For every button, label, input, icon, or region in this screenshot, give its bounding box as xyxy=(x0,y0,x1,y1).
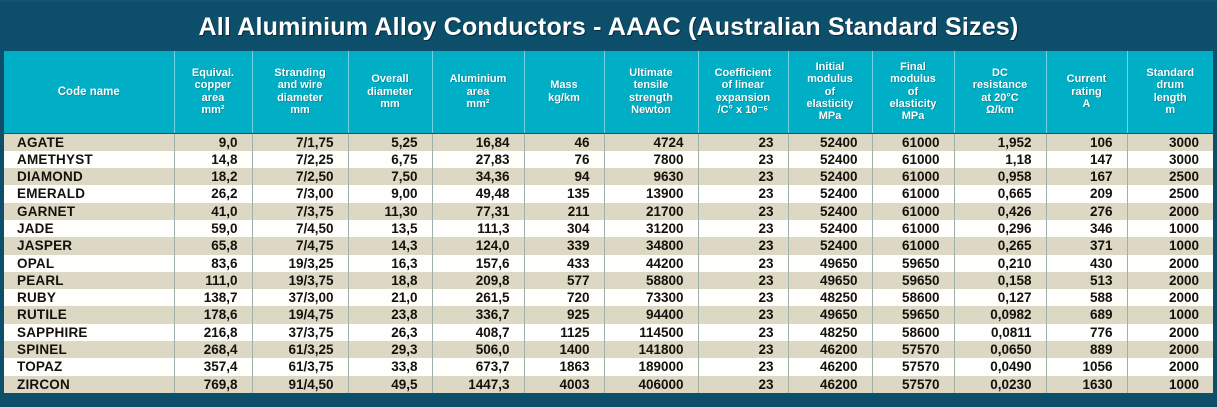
cell-ultimate_tensile_strength: 58800 xyxy=(604,272,698,289)
column-header-line: Coefficient xyxy=(700,67,787,79)
top-border-line xyxy=(0,0,1217,2)
cell-stranding_wire_diameter: 7/1,75 xyxy=(252,133,348,151)
cell-dc_resistance_20c: 0,265 xyxy=(954,237,1046,254)
cell-mass: 720 xyxy=(524,289,604,306)
cell-code-name: ZIRCON xyxy=(4,376,174,393)
cell-stranding_wire_diameter: 19/3,75 xyxy=(252,272,348,289)
cell-overall_diameter: 23,8 xyxy=(348,306,432,323)
cell-current_rating: 776 xyxy=(1046,324,1127,341)
column-header-line: Ultimate xyxy=(606,67,697,79)
column-header-line: DC xyxy=(956,67,1045,79)
cell-code-name: RUBY xyxy=(4,289,174,306)
column-header-line: Mass xyxy=(526,79,603,91)
cell-overall_diameter: 6,75 xyxy=(348,151,432,168)
cell-standard_drum_length: 3000 xyxy=(1127,151,1213,168)
cell-aluminium_area: 49,48 xyxy=(432,185,524,202)
cell-code-name: JASPER xyxy=(4,237,174,254)
cell-standard_drum_length: 2000 xyxy=(1127,203,1213,220)
cell-initial_modulus_elasticity: 46200 xyxy=(788,358,872,375)
column-header-final_modulus_elasticity[interactable]: FinalmodulusofelasticityMPa xyxy=(872,51,954,133)
cell-standard_drum_length: 1000 xyxy=(1127,220,1213,237)
cell-aluminium_area: 124,0 xyxy=(432,237,524,254)
cell-standard_drum_length: 2000 xyxy=(1127,272,1213,289)
cell-coefficient_linear_expansion: 23 xyxy=(698,376,788,393)
cell-stranding_wire_diameter: 19/3,25 xyxy=(252,255,348,272)
cell-mass: 433 xyxy=(524,255,604,272)
column-header-stranding_wire_diameter[interactable]: Strandingand wirediametermm xyxy=(252,51,348,133)
column-header-aluminium_area[interactable]: Aluminiumareamm² xyxy=(432,51,524,133)
cell-current_rating: 1056 xyxy=(1046,358,1127,375)
cell-ultimate_tensile_strength: 114500 xyxy=(604,324,698,341)
cell-code-name: JADE xyxy=(4,220,174,237)
cell-code-name: TOPAZ xyxy=(4,358,174,375)
cell-stranding_wire_diameter: 37/3,00 xyxy=(252,289,348,306)
column-header-line: rating xyxy=(1048,86,1126,98)
cell-stranding_wire_diameter: 7/4,75 xyxy=(252,237,348,254)
cell-stranding_wire_diameter: 37/3,75 xyxy=(252,324,348,341)
cell-mass: 135 xyxy=(524,185,604,202)
column-header-line: of linear xyxy=(700,79,787,91)
cell-standard_drum_length: 1000 xyxy=(1127,306,1213,323)
cell-mass: 1400 xyxy=(524,341,604,358)
cell-overall_diameter: 33,8 xyxy=(348,358,432,375)
cell-overall_diameter: 18,8 xyxy=(348,272,432,289)
cell-coefficient_linear_expansion: 23 xyxy=(698,358,788,375)
column-header-line: copper xyxy=(176,79,251,91)
column-header-line: MPa xyxy=(790,110,871,122)
cell-aluminium_area: 1447,3 xyxy=(432,376,524,393)
column-header-line: Final xyxy=(874,61,953,73)
column-header-line: elasticity xyxy=(874,98,953,110)
cell-coefficient_linear_expansion: 23 xyxy=(698,324,788,341)
cell-final_modulus_elasticity: 57570 xyxy=(872,341,954,358)
cell-coefficient_linear_expansion: 23 xyxy=(698,220,788,237)
cell-code-name: AGATE xyxy=(4,133,174,151)
cell-initial_modulus_elasticity: 49650 xyxy=(788,272,872,289)
cell-dc_resistance_20c: 0,210 xyxy=(954,255,1046,272)
page-title: All Aluminium Alloy Conductors - AAAC (A… xyxy=(198,13,1018,42)
cell-coefficient_linear_expansion: 23 xyxy=(698,272,788,289)
cell-mass: 1863 xyxy=(524,358,604,375)
column-header-coefficient_linear_expansion[interactable]: Coefficientof linearexpansion/C° x 10⁻⁶ xyxy=(698,51,788,133)
table-header-row: Code nameEquival.copperareamm²Strandinga… xyxy=(4,51,1213,133)
cell-initial_modulus_elasticity: 48250 xyxy=(788,289,872,306)
column-header-line: Newton xyxy=(606,104,697,116)
cell-stranding_wire_diameter: 91/4,50 xyxy=(252,376,348,393)
cell-code-name: DIAMOND xyxy=(4,168,174,185)
cell-stranding_wire_diameter: 61/3,75 xyxy=(252,358,348,375)
column-header-line: resistance xyxy=(956,79,1045,91)
cell-equiv_copper_area: 178,6 xyxy=(174,306,252,323)
cell-dc_resistance_20c: 0,158 xyxy=(954,272,1046,289)
cell-ultimate_tensile_strength: 4724 xyxy=(604,133,698,151)
table-row[interactable]: RUBY138,737/3,0021,0261,5720733002348250… xyxy=(4,289,1213,306)
column-header-line: diameter xyxy=(254,92,347,104)
column-header-line: modulus xyxy=(790,73,871,85)
cell-equiv_copper_area: 14,8 xyxy=(174,151,252,168)
cell-code-name: EMERALD xyxy=(4,185,174,202)
table-row[interactable]: AGATE9,07/1,755,2516,8446472423524006100… xyxy=(4,133,1213,151)
cell-coefficient_linear_expansion: 23 xyxy=(698,168,788,185)
cell-mass: 211 xyxy=(524,203,604,220)
column-header-line: at 20°C xyxy=(956,92,1045,104)
column-header-line: Standard xyxy=(1129,67,1213,79)
cell-overall_diameter: 5,25 xyxy=(348,133,432,151)
cell-standard_drum_length: 2500 xyxy=(1127,168,1213,185)
cell-code-name: SAPPHIRE xyxy=(4,324,174,341)
column-header-line: Code name xyxy=(5,86,173,98)
cell-aluminium_area: 77,31 xyxy=(432,203,524,220)
cell-coefficient_linear_expansion: 23 xyxy=(698,255,788,272)
column-header-line: area xyxy=(176,92,251,104)
column-header-line: area xyxy=(434,86,523,98)
cell-initial_modulus_elasticity: 52400 xyxy=(788,185,872,202)
cell-final_modulus_elasticity: 57570 xyxy=(872,358,954,375)
cell-dc_resistance_20c: 0,127 xyxy=(954,289,1046,306)
column-header-initial_modulus_elasticity[interactable]: InitialmodulusofelasticityMPa xyxy=(788,51,872,133)
column-header-line: /C° x 10⁻⁶ xyxy=(700,104,787,116)
cell-mass: 94 xyxy=(524,168,604,185)
cell-final_modulus_elasticity: 61000 xyxy=(872,185,954,202)
table-row[interactable]: ZIRCON769,891/4,5049,51447,3400340600023… xyxy=(4,376,1213,393)
cell-mass: 1125 xyxy=(524,324,604,341)
cell-aluminium_area: 336,7 xyxy=(432,306,524,323)
cell-ultimate_tensile_strength: 34800 xyxy=(604,237,698,254)
column-header-line: diameter xyxy=(350,86,431,98)
table-row[interactable]: DIAMOND18,27/2,507,5034,3694963023524006… xyxy=(4,168,1213,185)
cell-final_modulus_elasticity: 59650 xyxy=(872,255,954,272)
cell-coefficient_linear_expansion: 23 xyxy=(698,203,788,220)
cell-ultimate_tensile_strength: 44200 xyxy=(604,255,698,272)
cell-aluminium_area: 408,7 xyxy=(432,324,524,341)
cell-current_rating: 689 xyxy=(1046,306,1127,323)
cell-coefficient_linear_expansion: 23 xyxy=(698,151,788,168)
table-row[interactable]: JADE59,07/4,5013,5111,330431200235240061… xyxy=(4,220,1213,237)
column-header-line: kg/km xyxy=(526,92,603,104)
column-header-line: Aluminium xyxy=(434,73,523,85)
column-header-standard_drum_length[interactable]: Standarddrumlengthm xyxy=(1127,51,1213,133)
column-header-line: drum xyxy=(1129,79,1213,91)
cell-stranding_wire_diameter: 7/2,50 xyxy=(252,168,348,185)
cell-current_rating: 167 xyxy=(1046,168,1127,185)
cell-overall_diameter: 9,00 xyxy=(348,185,432,202)
cell-aluminium_area: 16,84 xyxy=(432,133,524,151)
cell-aluminium_area: 34,36 xyxy=(432,168,524,185)
column-header-line: Current xyxy=(1048,73,1126,85)
table-row[interactable]: EMERALD26,27/3,009,0049,4813513900235240… xyxy=(4,185,1213,202)
cell-overall_diameter: 26,3 xyxy=(348,324,432,341)
cell-dc_resistance_20c: 0,0490 xyxy=(954,358,1046,375)
cell-overall_diameter: 29,3 xyxy=(348,341,432,358)
cell-dc_resistance_20c: 0,0650 xyxy=(954,341,1046,358)
cell-equiv_copper_area: 59,0 xyxy=(174,220,252,237)
column-header-mass[interactable]: Masskg/km xyxy=(524,51,604,133)
aaac-conductor-table-sheet: All Aluminium Alloy Conductors - AAAC (A… xyxy=(0,0,1217,407)
column-header-line: mm² xyxy=(176,104,251,116)
cell-overall_diameter: 14,3 xyxy=(348,237,432,254)
cell-aluminium_area: 111,3 xyxy=(432,220,524,237)
cell-mass: 46 xyxy=(524,133,604,151)
cell-code-name: OPAL xyxy=(4,255,174,272)
column-header-ultimate_tensile_strength[interactable]: UltimatetensilestrengthNewton xyxy=(604,51,698,133)
table-row[interactable]: SPINEL268,461/3,2529,3506,01400141800234… xyxy=(4,341,1213,358)
cell-final_modulus_elasticity: 61000 xyxy=(872,237,954,254)
column-header-line: Equival. xyxy=(176,67,251,79)
cell-overall_diameter: 21,0 xyxy=(348,289,432,306)
cell-coefficient_linear_expansion: 23 xyxy=(698,306,788,323)
cell-final_modulus_elasticity: 59650 xyxy=(872,272,954,289)
cell-standard_drum_length: 2000 xyxy=(1127,324,1213,341)
cell-final_modulus_elasticity: 61000 xyxy=(872,220,954,237)
cell-ultimate_tensile_strength: 141800 xyxy=(604,341,698,358)
cell-code-name: RUTILE xyxy=(4,306,174,323)
cell-standard_drum_length: 1000 xyxy=(1127,237,1213,254)
column-header-line: expansion xyxy=(700,92,787,104)
column-header-line: elasticity xyxy=(790,98,871,110)
cell-current_rating: 276 xyxy=(1046,203,1127,220)
cell-final_modulus_elasticity: 61000 xyxy=(872,203,954,220)
table-row[interactable]: OPAL83,619/3,2516,3157,64334420023496505… xyxy=(4,255,1213,272)
cell-mass: 4003 xyxy=(524,376,604,393)
cell-ultimate_tensile_strength: 406000 xyxy=(604,376,698,393)
cell-code-name: GARNET xyxy=(4,203,174,220)
cell-ultimate_tensile_strength: 73300 xyxy=(604,289,698,306)
column-header-line: A xyxy=(1048,98,1126,110)
table-header: Code nameEquival.copperareamm²Strandinga… xyxy=(4,51,1213,133)
cell-final_modulus_elasticity: 61000 xyxy=(872,151,954,168)
cell-initial_modulus_elasticity: 52400 xyxy=(788,168,872,185)
column-header-line: Ω/km xyxy=(956,104,1045,116)
cell-equiv_copper_area: 41,0 xyxy=(174,203,252,220)
cell-standard_drum_length: 2000 xyxy=(1127,255,1213,272)
title-bar: All Aluminium Alloy Conductors - AAAC (A… xyxy=(4,4,1213,51)
cell-mass: 577 xyxy=(524,272,604,289)
column-header-line: m xyxy=(1129,104,1213,116)
cell-ultimate_tensile_strength: 189000 xyxy=(604,358,698,375)
cell-standard_drum_length: 3000 xyxy=(1127,133,1213,151)
cell-overall_diameter: 13,5 xyxy=(348,220,432,237)
column-header-line: mm xyxy=(254,104,347,116)
column-header-line: MPa xyxy=(874,110,953,122)
cell-stranding_wire_diameter: 7/3,75 xyxy=(252,203,348,220)
cell-coefficient_linear_expansion: 23 xyxy=(698,237,788,254)
column-header-line: and wire xyxy=(254,79,347,91)
cell-final_modulus_elasticity: 59650 xyxy=(872,306,954,323)
cell-code-name: PEARL xyxy=(4,272,174,289)
cell-aluminium_area: 506,0 xyxy=(432,341,524,358)
cell-equiv_copper_area: 357,4 xyxy=(174,358,252,375)
column-header-line: strength xyxy=(606,92,697,104)
cell-overall_diameter: 16,3 xyxy=(348,255,432,272)
cell-equiv_copper_area: 9,0 xyxy=(174,133,252,151)
cell-current_rating: 1630 xyxy=(1046,376,1127,393)
conductor-specifications-table: Code nameEquival.copperareamm²Strandinga… xyxy=(4,51,1213,393)
cell-aluminium_area: 209,8 xyxy=(432,272,524,289)
table-row[interactable]: SAPPHIRE216,837/3,7526,3408,711251145002… xyxy=(4,324,1213,341)
cell-ultimate_tensile_strength: 21700 xyxy=(604,203,698,220)
cell-coefficient_linear_expansion: 23 xyxy=(698,185,788,202)
cell-final_modulus_elasticity: 61000 xyxy=(872,168,954,185)
column-header-line: modulus xyxy=(874,73,953,85)
cell-equiv_copper_area: 65,8 xyxy=(174,237,252,254)
cell-initial_modulus_elasticity: 49650 xyxy=(788,255,872,272)
cell-stranding_wire_diameter: 7/2,25 xyxy=(252,151,348,168)
column-header-line: tensile xyxy=(606,79,697,91)
column-header-line: of xyxy=(790,86,871,98)
cell-current_rating: 209 xyxy=(1046,185,1127,202)
cell-equiv_copper_area: 26,2 xyxy=(174,185,252,202)
cell-mass: 76 xyxy=(524,151,604,168)
cell-coefficient_linear_expansion: 23 xyxy=(698,341,788,358)
cell-current_rating: 430 xyxy=(1046,255,1127,272)
cell-current_rating: 513 xyxy=(1046,272,1127,289)
cell-current_rating: 588 xyxy=(1046,289,1127,306)
cell-initial_modulus_elasticity: 48250 xyxy=(788,324,872,341)
cell-final_modulus_elasticity: 61000 xyxy=(872,133,954,151)
cell-aluminium_area: 673,7 xyxy=(432,358,524,375)
cell-code-name: AMETHYST xyxy=(4,151,174,168)
cell-coefficient_linear_expansion: 23 xyxy=(698,289,788,306)
table-row[interactable]: GARNET41,07/3,7511,3077,3121121700235240… xyxy=(4,203,1213,220)
cell-current_rating: 346 xyxy=(1046,220,1127,237)
cell-current_rating: 106 xyxy=(1046,133,1127,151)
column-header-line: Overall xyxy=(350,73,431,85)
cell-stranding_wire_diameter: 7/3,00 xyxy=(252,185,348,202)
cell-equiv_copper_area: 18,2 xyxy=(174,168,252,185)
column-header-overall_diameter[interactable]: Overalldiametermm xyxy=(348,51,432,133)
table-body: AGATE9,07/1,755,2516,8446472423524006100… xyxy=(4,133,1213,393)
cell-ultimate_tensile_strength: 9630 xyxy=(604,168,698,185)
cell-mass: 925 xyxy=(524,306,604,323)
column-header-line: Stranding xyxy=(254,67,347,79)
table-row[interactable]: JASPER65,87/4,7514,3124,0339348002352400… xyxy=(4,237,1213,254)
cell-code-name: SPINEL xyxy=(4,341,174,358)
cell-aluminium_area: 27,83 xyxy=(432,151,524,168)
cell-initial_modulus_elasticity: 46200 xyxy=(788,341,872,358)
cell-dc_resistance_20c: 1,18 xyxy=(954,151,1046,168)
cell-overall_diameter: 7,50 xyxy=(348,168,432,185)
cell-equiv_copper_area: 268,4 xyxy=(174,341,252,358)
cell-initial_modulus_elasticity: 52400 xyxy=(788,237,872,254)
cell-dc_resistance_20c: 0,296 xyxy=(954,220,1046,237)
cell-aluminium_area: 261,5 xyxy=(432,289,524,306)
cell-dc_resistance_20c: 0,0982 xyxy=(954,306,1046,323)
cell-overall_diameter: 11,30 xyxy=(348,203,432,220)
table-row[interactable]: TOPAZ357,461/3,7533,8673,718631890002346… xyxy=(4,358,1213,375)
cell-initial_modulus_elasticity: 52400 xyxy=(788,203,872,220)
cell-stranding_wire_diameter: 61/3,25 xyxy=(252,341,348,358)
cell-current_rating: 889 xyxy=(1046,341,1127,358)
column-header-line: length xyxy=(1129,92,1213,104)
cell-ultimate_tensile_strength: 94400 xyxy=(604,306,698,323)
cell-dc_resistance_20c: 0,0811 xyxy=(954,324,1046,341)
cell-stranding_wire_diameter: 19/4,75 xyxy=(252,306,348,323)
cell-initial_modulus_elasticity: 52400 xyxy=(788,133,872,151)
cell-equiv_copper_area: 111,0 xyxy=(174,272,252,289)
cell-dc_resistance_20c: 0,426 xyxy=(954,203,1046,220)
cell-dc_resistance_20c: 0,0230 xyxy=(954,376,1046,393)
cell-mass: 304 xyxy=(524,220,604,237)
cell-coefficient_linear_expansion: 23 xyxy=(698,133,788,151)
cell-overall_diameter: 49,5 xyxy=(348,376,432,393)
cell-final_modulus_elasticity: 58600 xyxy=(872,324,954,341)
cell-stranding_wire_diameter: 7/4,50 xyxy=(252,220,348,237)
cell-equiv_copper_area: 216,8 xyxy=(174,324,252,341)
cell-dc_resistance_20c: 1,952 xyxy=(954,133,1046,151)
cell-equiv_copper_area: 769,8 xyxy=(174,376,252,393)
table-row[interactable]: PEARL111,019/3,7518,8209,857758800234965… xyxy=(4,272,1213,289)
cell-standard_drum_length: 2000 xyxy=(1127,358,1213,375)
column-header-current_rating[interactable]: CurrentratingA xyxy=(1046,51,1127,133)
cell-aluminium_area: 157,6 xyxy=(432,255,524,272)
cell-standard_drum_length: 1000 xyxy=(1127,376,1213,393)
cell-current_rating: 371 xyxy=(1046,237,1127,254)
cell-dc_resistance_20c: 0,665 xyxy=(954,185,1046,202)
table-row[interactable]: RUTILE178,619/4,7523,8336,79259440023496… xyxy=(4,306,1213,323)
cell-equiv_copper_area: 83,6 xyxy=(174,255,252,272)
cell-equiv_copper_area: 138,7 xyxy=(174,289,252,306)
table-row[interactable]: AMETHYST14,87/2,256,7527,837678002352400… xyxy=(4,151,1213,168)
cell-final_modulus_elasticity: 57570 xyxy=(872,376,954,393)
column-header-code_name[interactable]: Code name xyxy=(4,51,174,133)
cell-ultimate_tensile_strength: 31200 xyxy=(604,220,698,237)
cell-final_modulus_elasticity: 58600 xyxy=(872,289,954,306)
column-header-line: Initial xyxy=(790,61,871,73)
cell-ultimate_tensile_strength: 7800 xyxy=(604,151,698,168)
cell-current_rating: 147 xyxy=(1046,151,1127,168)
column-header-equiv_copper_area[interactable]: Equival.copperareamm² xyxy=(174,51,252,133)
column-header-line: mm xyxy=(350,98,431,110)
column-header-line: of xyxy=(874,86,953,98)
column-header-line: mm² xyxy=(434,98,523,110)
cell-dc_resistance_20c: 0,958 xyxy=(954,168,1046,185)
cell-ultimate_tensile_strength: 13900 xyxy=(604,185,698,202)
cell-standard_drum_length: 2000 xyxy=(1127,289,1213,306)
column-header-dc_resistance_20c[interactable]: DCresistanceat 20°CΩ/km xyxy=(954,51,1046,133)
cell-initial_modulus_elasticity: 52400 xyxy=(788,220,872,237)
cell-initial_modulus_elasticity: 52400 xyxy=(788,151,872,168)
cell-standard_drum_length: 2500 xyxy=(1127,185,1213,202)
cell-initial_modulus_elasticity: 49650 xyxy=(788,306,872,323)
cell-initial_modulus_elasticity: 46200 xyxy=(788,376,872,393)
cell-mass: 339 xyxy=(524,237,604,254)
cell-standard_drum_length: 2000 xyxy=(1127,341,1213,358)
